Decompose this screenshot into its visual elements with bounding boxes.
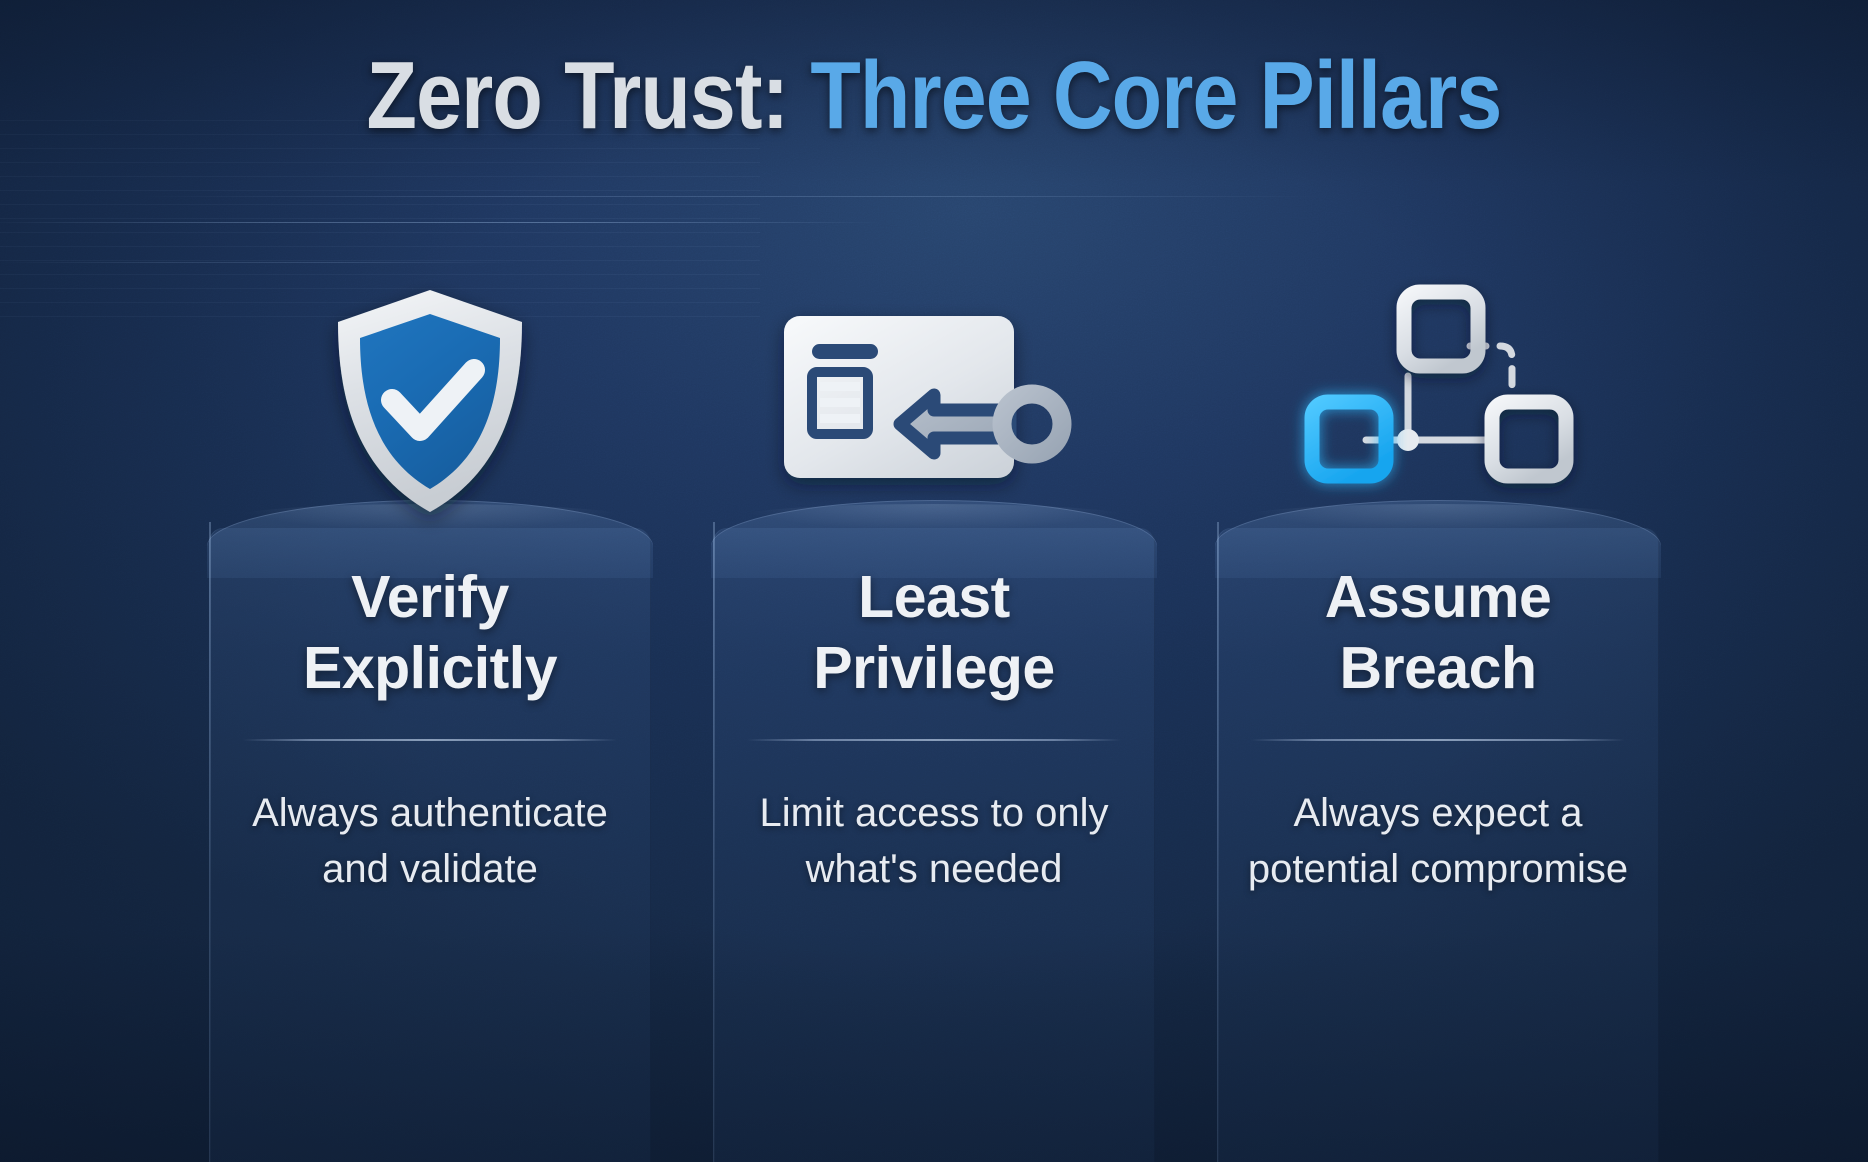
pillar-content: Assume Breach Always expect a potential … <box>1217 510 1659 1162</box>
page-title-primary: Zero Trust: <box>367 42 789 149</box>
pillar-divider <box>243 739 617 741</box>
pillar-title-line2: Privilege <box>813 633 1054 704</box>
card-line <box>820 414 860 423</box>
infographic-stage: Zero Trust: Three Core Pillars <box>0 0 1868 1162</box>
pillar-description-line1: Always expect a <box>1248 785 1628 842</box>
pillar-card-verify-explicitly[interactable]: Verify Explicitly Always authenticate an… <box>209 510 651 1162</box>
card-line <box>820 398 860 407</box>
pillar-description: Always expect a potential compromise <box>1248 785 1628 899</box>
shield-check-icon <box>332 288 528 514</box>
pillar-description-line2: and validate <box>252 841 608 898</box>
pillar-card-least-privilege[interactable]: Least Privilege Limit access to only wha… <box>713 510 1155 1162</box>
pillar-title-line1: Verify <box>303 562 557 633</box>
pillar-divider <box>747 739 1121 741</box>
pillar-title-line2: Explicitly <box>303 633 557 704</box>
pillars-container: Verify Explicitly Always authenticate an… <box>0 510 1868 1162</box>
access-card-key-icon <box>782 310 1086 500</box>
background-streak <box>0 262 520 263</box>
pillar-content: Verify Explicitly Always authenticate an… <box>209 510 651 1162</box>
pillar-description-line2: potential compromise <box>1248 841 1628 898</box>
pillar-description-line1: Always authenticate <box>252 785 608 842</box>
pillar-title-line1: Least <box>813 562 1054 633</box>
pillar-title: Verify Explicitly <box>303 562 557 704</box>
pillar-description-line2: what's needed <box>759 841 1108 898</box>
pillar-description: Limit access to only what's needed <box>759 785 1108 899</box>
connector-hub-dot <box>1397 429 1419 451</box>
pillar-title: Assume Breach <box>1325 562 1552 704</box>
card-header-bar <box>812 344 878 359</box>
key-head-ring <box>1002 394 1062 454</box>
pillar-card-assume-breach[interactable]: Assume Breach Always expect a potential … <box>1217 510 1659 1162</box>
pillar-title-line1: Assume <box>1325 562 1552 633</box>
page-title: Zero Trust: Three Core Pillars <box>131 48 1737 144</box>
background-streak <box>140 196 1320 197</box>
pillar-content: Least Privilege Limit access to only wha… <box>713 510 1155 1162</box>
network-nodes-icon <box>1304 290 1572 496</box>
background-streak <box>0 222 880 223</box>
page-title-accent: Three Core Pillars <box>810 42 1501 149</box>
card-line <box>820 382 860 391</box>
pillar-divider <box>1251 739 1625 741</box>
network-node-right <box>1492 402 1566 476</box>
pillar-description: Always authenticate and validate <box>252 785 608 899</box>
pillar-title: Least Privilege <box>813 562 1054 704</box>
card-background <box>784 316 1014 478</box>
network-node-top <box>1404 292 1478 366</box>
pillar-title-line2: Breach <box>1325 633 1552 704</box>
pillar-description-line1: Limit access to only <box>759 785 1108 842</box>
